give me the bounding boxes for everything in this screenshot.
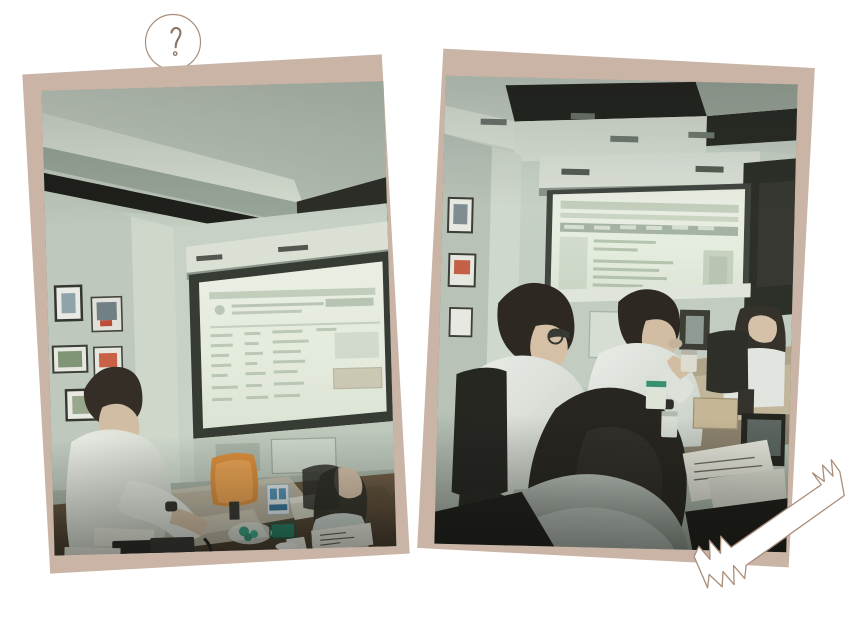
badge-circle-outline bbox=[146, 15, 201, 70]
question-mark-dot bbox=[174, 52, 177, 55]
photo-left-image bbox=[42, 81, 397, 555]
collage-page bbox=[0, 0, 861, 620]
photo-left[interactable] bbox=[42, 81, 397, 555]
question-mark-glyph bbox=[172, 28, 181, 47]
banner-shape bbox=[679, 458, 861, 594]
torn-paper-banner bbox=[688, 462, 861, 620]
photo-card-left[interactable] bbox=[36, 64, 396, 564]
